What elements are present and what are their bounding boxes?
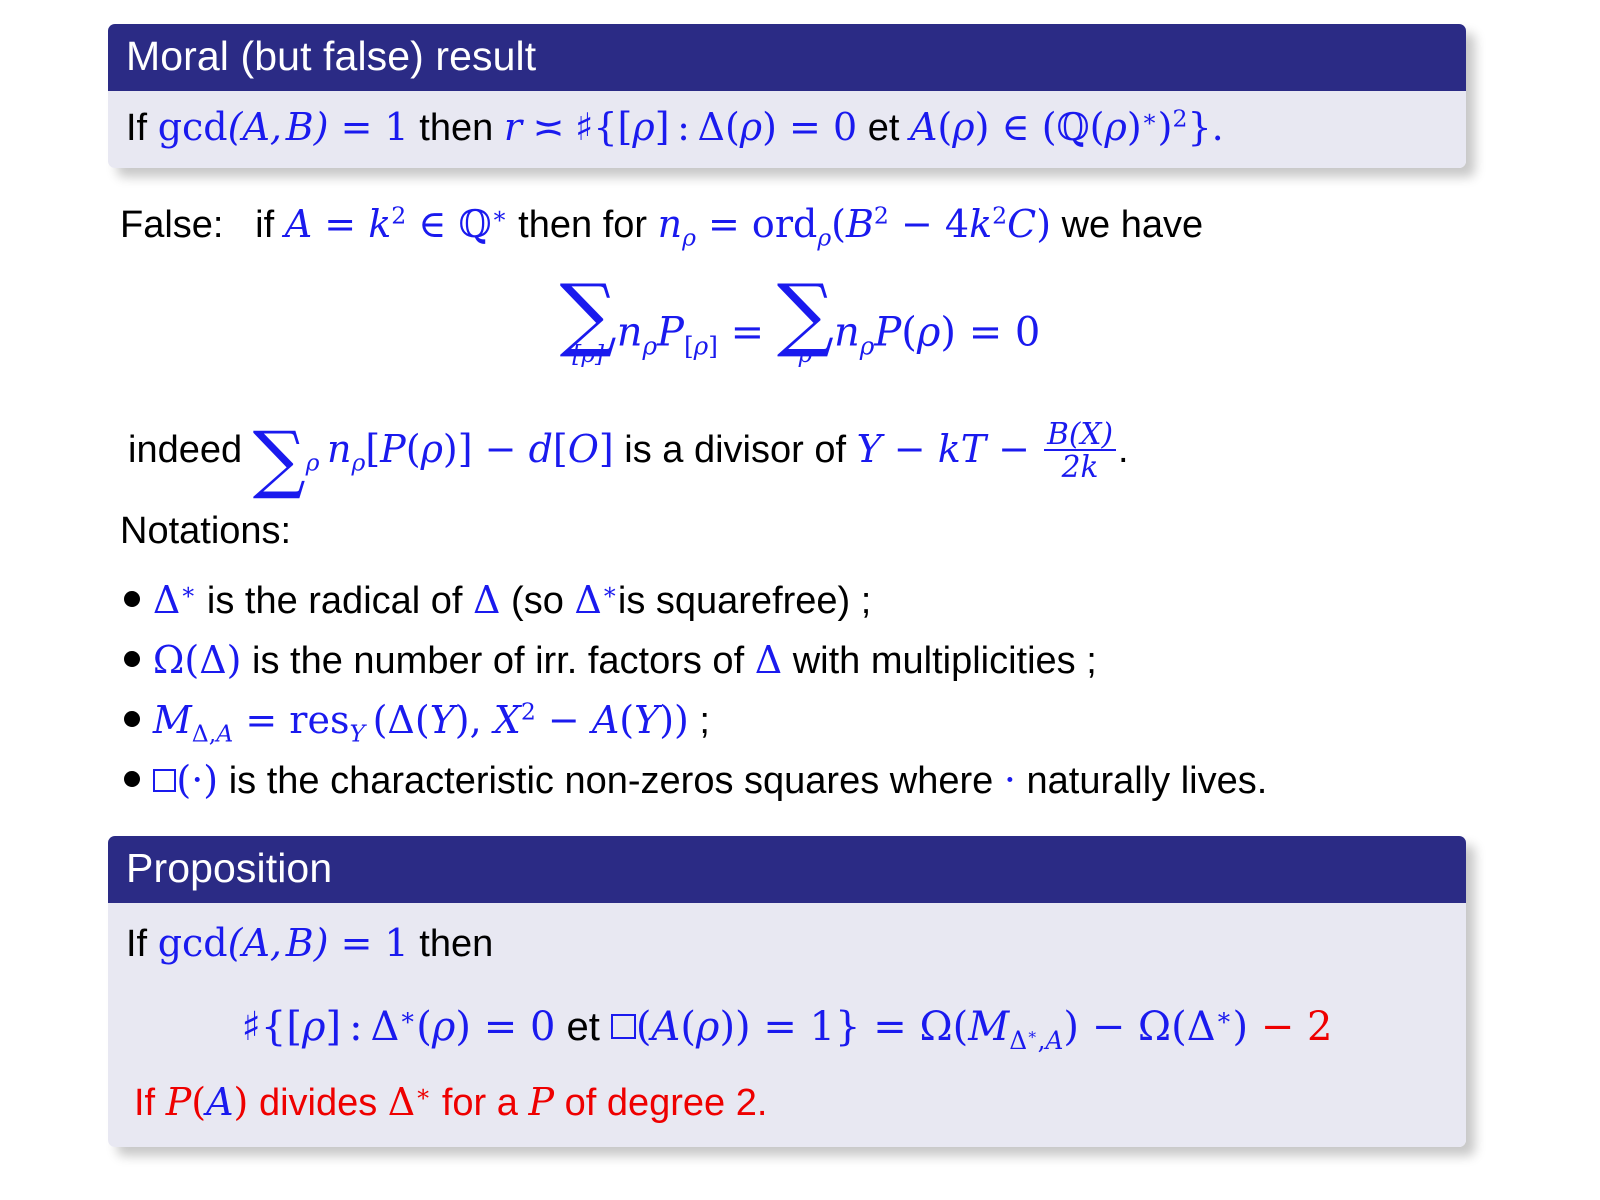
moral-statement: If gcd(A, B) = 1 then r ≍ ♯{[ρ] : Δ(ρ) =… xyxy=(126,105,1448,150)
fraction-denominator: 2k xyxy=(1044,449,1116,482)
bullet-dot-icon xyxy=(124,651,140,667)
bullet-dot-icon xyxy=(124,591,140,607)
block-moral-result-title: Moral (but false) result xyxy=(108,24,1466,91)
square-char-text-2: naturally lives. xyxy=(1027,760,1268,802)
omega-math-2: Δ xyxy=(755,638,782,682)
block-proposition: Proposition If gcd(A, B) = 1 then ♯{[ρ] … xyxy=(108,836,1466,1147)
indeed-fraction: B(X)2k xyxy=(1044,418,1116,483)
radical-text-1: is the radical of xyxy=(207,580,463,622)
notation-item-radical: Δ∗ is the radical of Δ (so Δ∗is squarefr… xyxy=(124,578,871,623)
indeed-period: . xyxy=(1118,429,1129,471)
block-moral-result: Moral (but false) result If gcd(A, B) = … xyxy=(108,24,1466,168)
moral-then-text: then xyxy=(419,107,493,149)
sum-1-body: n xyxy=(617,309,643,355)
square-char-math-2: · xyxy=(1004,758,1016,802)
omega-text-2: with multiplicities ; xyxy=(793,640,1097,682)
indeed-line: indeed ∑ρ nρ[P(ρ)] − d[O] is a divisor o… xyxy=(128,418,1129,501)
square-char-text-1: is the characteristic non-zeros squares … xyxy=(229,760,994,802)
false-tail-text: we have xyxy=(1062,204,1204,246)
notation-item-square-char: (·) is the characteristic non-zeros squa… xyxy=(124,758,1267,803)
bullet-dot-icon xyxy=(124,771,140,787)
radical-math-lead: Δ∗ xyxy=(153,578,196,622)
footnote-math-3: P xyxy=(528,1080,554,1124)
footnote-text-3: of degree 2. xyxy=(565,1082,768,1124)
resultant-text-1: ; xyxy=(699,700,710,742)
false-label: False: xyxy=(120,204,223,246)
false-if-text: if xyxy=(255,204,274,246)
moral-lead-text: If xyxy=(126,107,147,149)
resultant-math-rest: = resY (Δ(Y), X2 − A(Y)) xyxy=(233,698,689,742)
false-then-for-text: then for xyxy=(518,204,647,246)
display-equation: ∑ [ρ] nρP[ρ] = ∑ ρ nρP(ρ) = 0 xyxy=(0,280,1600,365)
square-char-math-lead: (·) xyxy=(153,758,218,802)
indeed-lead-text: indeed xyxy=(128,429,242,471)
open-square-icon xyxy=(153,769,177,793)
proposition-if-text: If xyxy=(126,923,147,965)
proposition-eq-rhs: Ω(MΔ∗,A) − Ω(Δ∗) xyxy=(919,1004,1248,1050)
proposition-footnote: If P(A) divides Δ∗ for a P of degree 2. xyxy=(126,1080,1448,1125)
footnote-text-1: divides xyxy=(259,1082,377,1124)
moral-r-expr: r xyxy=(504,105,522,149)
footnote-math-2: Δ∗ xyxy=(388,1080,431,1124)
block-proposition-title: Proposition xyxy=(108,836,1466,903)
proposition-eq-red-tail: − 2 xyxy=(1248,1004,1332,1050)
display-eq-rhs: = 0 xyxy=(956,309,1040,355)
open-square-icon xyxy=(611,1014,636,1039)
indeed-sum: ∑ρ xyxy=(253,427,320,471)
fraction-numerator: B(X) xyxy=(1044,418,1116,449)
proposition-eq-et: et xyxy=(567,1005,600,1049)
radical-text-2: (so xyxy=(511,580,564,622)
false-math-2: n xyxy=(658,202,682,246)
false-math-1: A xyxy=(285,202,312,246)
false-line: False: if A = k2 ∈ ℚ∗ then for nρ = ordρ… xyxy=(120,203,1203,247)
proposition-eq-lhs: ♯{[ρ] : Δ∗(ρ) = 0 xyxy=(242,1004,556,1050)
proposition-then-text: then xyxy=(419,923,493,965)
proposition-line-1: If gcd(A, B) = 1 then xyxy=(126,917,1448,966)
moral-tail-expr: A xyxy=(910,105,937,149)
notation-item-resultant: MΔ,A = resY (Δ(Y), X2 − A(Y)) ; xyxy=(124,698,710,743)
resultant-math-lead: M xyxy=(153,698,192,742)
moral-et-text: et xyxy=(868,107,900,149)
omega-math-lead: Ω(Δ) xyxy=(153,638,242,682)
proposition-eq-lhs2: (A(ρ)) = 1} = xyxy=(611,1004,919,1050)
sum-2-body: n xyxy=(834,309,860,355)
notations-heading: Notations: xyxy=(120,510,291,553)
sum-2: ∑ ρ xyxy=(777,280,834,365)
indeed-middle-text: is a divisor of xyxy=(624,429,846,471)
bullet-dot-icon xyxy=(124,711,140,727)
sum-1: ∑ [ρ] xyxy=(560,280,617,365)
proposition-equation: ♯{[ρ] : Δ∗(ρ) = 0 et (A(ρ)) = 1} = Ω(MΔ∗… xyxy=(126,966,1448,1080)
moral-gcd-expr: gcd xyxy=(158,105,228,149)
omega-text-1: is the number of irr. factors of xyxy=(252,640,744,682)
footnote-text-2: for a xyxy=(442,1082,518,1124)
block-proposition-body: If gcd(A, B) = 1 then ♯{[ρ] : Δ∗(ρ) = 0 … xyxy=(108,903,1466,1147)
radical-text-3: is squarefree) ; xyxy=(618,580,871,622)
notation-item-omega: Ω(Δ) is the number of irr. factors of Δ … xyxy=(124,638,1097,683)
footnote-math-1: P xyxy=(166,1080,192,1124)
indeed-math-2: Y xyxy=(857,427,882,471)
moral-sharp-set: ♯{[ρ] : xyxy=(575,105,698,149)
resultant-subscript: Δ,A xyxy=(192,720,234,748)
radical-math-2: Δ xyxy=(473,578,500,622)
proposition-gcd-expr: gcd xyxy=(158,921,228,965)
block-moral-result-body: If gcd(A, B) = 1 then r ≍ ♯{[ρ] : Δ(ρ) =… xyxy=(108,91,1466,168)
slide-root: Moral (but false) result If gcd(A, B) = … xyxy=(0,0,1600,1200)
radical-math-3: Δ∗ xyxy=(574,578,617,622)
footnote-lead-text: If xyxy=(134,1082,155,1124)
